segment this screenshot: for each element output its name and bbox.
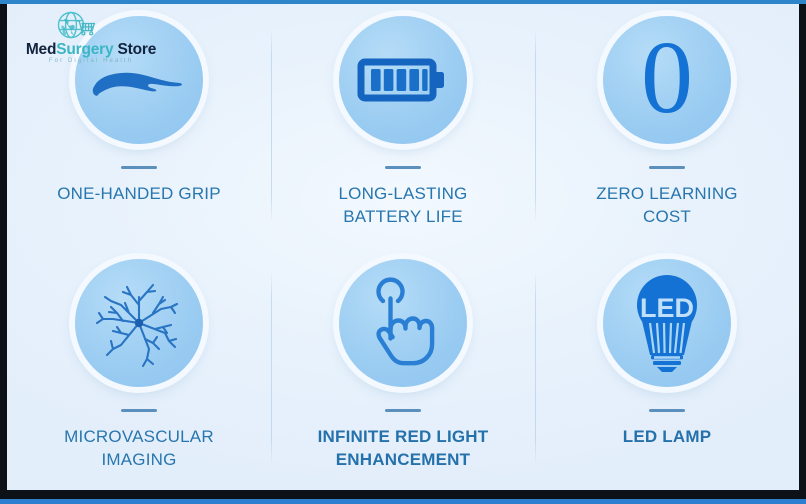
feature-card-infinite-red-light-enhancement: INFINITE RED LIGHT ENHANCEMENT [271, 247, 535, 490]
zero-glyph: 0 [641, 32, 693, 128]
feature-icon-badge: 0 [603, 16, 731, 144]
feature-label: ONE-HANDED GRIP [47, 183, 231, 206]
led-glyph-text: LED [640, 293, 694, 323]
feature-label: LED LAMP [613, 426, 721, 449]
frame-rule-top [0, 0, 806, 4]
feature-divider [385, 409, 421, 412]
feature-divider [649, 409, 685, 412]
open-hand-icon [85, 50, 193, 110]
frame-bezel-bottom [0, 490, 806, 499]
feature-divider [649, 166, 685, 169]
feature-label: ZERO LEARNING COST [586, 183, 747, 228]
poster-frame: MedSurgery Store For Digital Health ONE-… [0, 0, 806, 504]
frame-bezel-right [799, 0, 806, 504]
feature-card-one-handed-grip: ONE-HANDED GRIP [7, 4, 271, 247]
frame-rule-bottom [0, 499, 806, 504]
led-bulb-icon: LED [626, 273, 708, 373]
feature-icon-badge [339, 16, 467, 144]
feature-card-zero-learning-cost: 0 ZERO LEARNING COST [535, 4, 799, 247]
feature-grid: ONE-HANDED GRIP [7, 4, 799, 490]
poster-canvas: MedSurgery Store For Digital Health ONE-… [7, 4, 799, 490]
feature-card-microvascular-imaging: MICROVASCULAR IMAGING [7, 247, 271, 490]
feature-icon-badge: LED [603, 259, 731, 387]
vascular-branching-icon [87, 271, 191, 375]
feature-label: INFINITE RED LIGHT ENHANCEMENT [308, 426, 499, 471]
feature-divider [121, 409, 157, 412]
battery-full-icon [357, 50, 449, 110]
feature-label: MICROVASCULAR IMAGING [54, 426, 224, 471]
feature-icon-badge [75, 16, 203, 144]
feature-icon-badge [75, 259, 203, 387]
feature-icon-badge [339, 259, 467, 387]
zero-digit-icon: 0 [621, 32, 713, 128]
frame-bezel-left [0, 0, 7, 504]
feature-divider [385, 166, 421, 169]
feature-divider [121, 166, 157, 169]
feature-label: LONG-LASTING BATTERY LIFE [329, 183, 478, 228]
feature-card-long-lasting-battery-life: LONG-LASTING BATTERY LIFE [271, 4, 535, 247]
feature-card-led-lamp: LED LED LAMP [535, 247, 799, 490]
hand-tap-gesture-icon [358, 274, 448, 372]
